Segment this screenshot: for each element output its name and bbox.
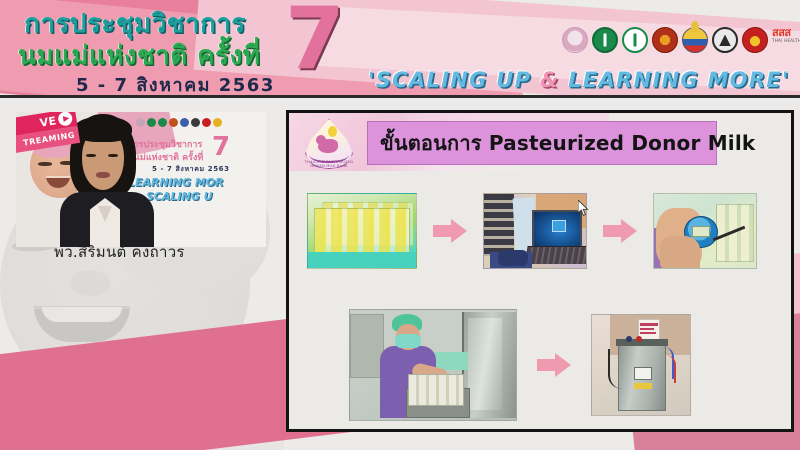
ministry-of-public-health-logo [592,27,618,53]
arrow-right-icon [537,353,571,377]
speaker-name-caption: พว.สิริมนต์ คงถาวร [54,240,185,264]
tagline-suffix: LEARNING MORE' [560,68,790,92]
thai-breastfeeding-foundation-logo [562,27,588,53]
photo-nurse-loading-pasteurizer [349,309,517,421]
process-flow-row-1 [307,193,757,269]
live-video-thumbnail[interactable]: การประชุมวิชาการ นมแม่แห่งชาติ ครั้งที่ … [16,112,266,247]
slide-screenshot: 7 การประชุมวิชาการ นมแม่แห่งชาติ ครั้งที… [0,0,800,450]
arrow-right-icon [603,219,637,243]
conference-tagline: 'SCALING UP & LEARNING MORE' [368,68,790,92]
video-frame: การประชุมวิชาการ นมแม่แห่งชาติ ครั้งที่ … [16,112,266,247]
slide-title-text: ขั้นตอนการ Pasteurized Donor Milk [380,127,755,159]
slide-title-banner: ขั้นตอนการ Pasteurized Donor Milk [367,121,717,165]
university-seal-logo [712,27,738,53]
thaihealth-sss-logo: สสส THAI HEALTH [772,27,800,53]
play-icon [57,112,73,127]
video-slide-edition: 7 [212,134,230,160]
sss-label: สสส [772,27,800,38]
conference-header-banner: 7 การประชุมวิชาการ นมแม่แห่งชาติ ครั้งที… [0,0,800,98]
milk-logo-caption: THAILAND PASTEURIZED HUMAN MILK BANK [303,161,355,173]
photo-pasteurizer-machine [591,314,691,416]
department-of-health-logo [622,27,648,53]
process-flow-row-2 [349,309,691,421]
photo-milk-bottles-rack [307,193,417,269]
photo-digital-thermometer [653,193,757,269]
royal-crest-logo [682,27,708,53]
video-slide-tagline-line2: SCALING U [146,190,266,203]
video-slide-tagline-line1: LEARNING MOR [128,176,266,189]
video-slide-logo-row [136,118,222,127]
photo-laptop-workstation [483,193,587,269]
live-badge-streaming-text: TREAMING [23,130,76,147]
video-slide-dates: 5 - 7 สิงหาคม 2563 [152,164,230,175]
edition-number: 7 [285,0,345,82]
sss-sublabel: THAI HEALTH [772,38,800,43]
header-bottom-rule [0,95,800,98]
national-emblem-logo [742,27,768,53]
royal-college-logo [652,27,678,53]
presentation-slide-panel: THAILAND PASTEURIZED HUMAN MILK BANK ขั้… [286,110,794,432]
pasteurized-human-milk-bank-drop-icon: THAILAND PASTEURIZED HUMAN MILK BANK [299,117,361,175]
tagline-prefix: 'SCALING UP [368,68,540,92]
live-badge-live-text: VE [39,114,58,129]
sponsor-logo-strip: สสส THAI HEALTH [562,27,800,53]
conference-dates: 5 - 7 สิงหาคม 2563 [76,70,275,98]
arrow-right-icon [433,219,467,243]
tagline-ampersand: & [540,68,560,92]
